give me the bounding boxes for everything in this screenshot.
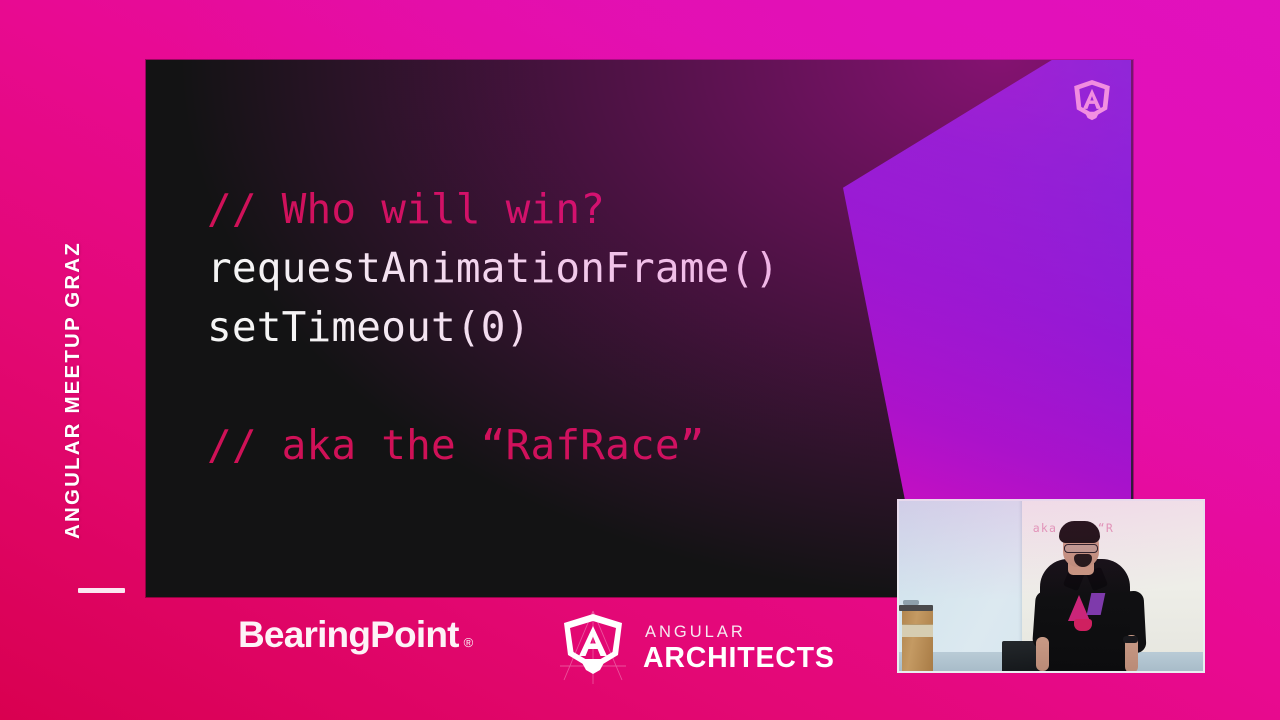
organizer-logo-angular-architects: ANGULAR ARCHITECTS <box>558 610 835 686</box>
event-title-rail: ANGULAR MEETUP GRAZ <box>0 0 146 720</box>
sponsor-name: BearingPoint <box>238 616 459 653</box>
speaker-glasses <box>1064 544 1098 553</box>
speaker-arm-left <box>1036 637 1049 671</box>
code-blank-line <box>207 357 779 416</box>
speaker-hair <box>1059 521 1100 543</box>
shirt-logo-part-a <box>1068 595 1090 621</box>
presentation-stage: ANGULAR MEETUP GRAZ // Who will win? req… <box>0 0 1280 720</box>
wooden-cabinet <box>902 609 933 671</box>
cabinet-top-object <box>899 605 933 611</box>
cabinet-shelf <box>902 624 933 637</box>
slide-code-block: // Who will win? requestAnimationFrame()… <box>207 180 779 475</box>
speaker-webcam-pip[interactable]: aka the “R <box>897 499 1205 673</box>
registered-trademark-icon: ® <box>464 635 474 650</box>
organizer-name-line1: ANGULAR <box>645 624 835 641</box>
code-line: setTimeout(0) <box>207 303 531 351</box>
cabinet-item <box>903 600 919 605</box>
organizer-wordmark: ANGULAR ARCHITECTS <box>643 624 835 673</box>
speaker-wristwatch <box>1123 636 1138 643</box>
code-line: requestAnimationFrame() <box>207 244 779 292</box>
event-title: ANGULAR MEETUP GRAZ <box>61 241 85 539</box>
sponsor-logo-bearingpoint: BearingPoint ® <box>238 616 473 653</box>
angular-architects-shield-icon <box>558 610 628 686</box>
rail-divider-dash <box>78 588 125 593</box>
organizer-name-line2: ARCHITECTS <box>643 644 835 673</box>
shirt-logo-part-c <box>1074 619 1092 631</box>
code-comment-line: // aka the “RafRace” <box>207 421 705 469</box>
webcam-scene: aka the “R <box>899 501 1203 671</box>
code-comment-line: // Who will win? <box>207 185 605 233</box>
angular-shield-icon <box>1073 78 1111 124</box>
